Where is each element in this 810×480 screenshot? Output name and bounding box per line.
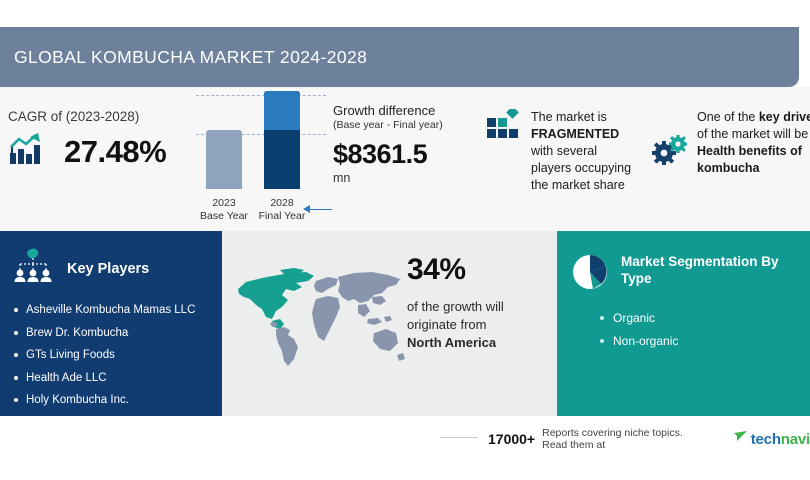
list-item: Organic (613, 307, 810, 330)
cagr-value: 27.48% (64, 134, 166, 170)
growth-difference-block: Growth difference (Base year - Final yea… (333, 103, 478, 185)
pie-chart-icon (571, 253, 609, 296)
key-players-list: Asheville Kombucha Mamas LLC Brew Dr. Ko… (0, 299, 222, 412)
segmentation-title: Market Segmentation By Type (621, 253, 781, 287)
list-item: Holy Kombucha Inc. (26, 389, 222, 412)
technavio-arrow-icon (733, 429, 748, 449)
market-structure-block: The market is FRAGMENTED with several pl… (487, 109, 635, 194)
key-drivers-block: One of the key drivers of the market wil… (652, 109, 810, 177)
growth-subtitle: (Base year - Final year) (333, 118, 478, 132)
infographic-canvas: GLOBAL KOMBUCHA MARKET 2024-2028 CAGR of… (0, 0, 810, 480)
key-players-panel: Key Players Asheville Kombucha Mamas LLC… (0, 231, 222, 416)
footer-report-count: 17000+ (488, 431, 535, 447)
list-item: Health Ade LLC (26, 367, 222, 390)
region-growth-block: 34% of the growth will originate from No… (222, 231, 557, 416)
bar-final-year (264, 91, 300, 189)
growth-bar-chart: 2023 Base Year 2028 Final Year (196, 93, 326, 223)
page-title: GLOBAL KOMBUCHA MARKET 2024-2028 (0, 47, 367, 68)
world-map-icon (232, 267, 407, 374)
middle-band: Key Players Asheville Kombucha Mamas LLC… (0, 231, 810, 416)
bar-growth-segment (264, 91, 300, 130)
key-players-title: Key Players (67, 261, 149, 277)
key-drivers-text: One of the key drivers of the market wil… (697, 109, 810, 177)
bar-label-base: 2023 Base Year (193, 197, 255, 223)
segmentation-list: Organic Non-organic (557, 307, 810, 353)
growth-unit: mn (333, 171, 478, 185)
page-header: GLOBAL KOMBUCHA MARKET 2024-2028 (0, 27, 799, 87)
region-growth-text: 34% of the growth will originate from No… (407, 253, 547, 352)
cagr-label: CAGR of (2023-2028) (8, 109, 186, 124)
cagr-block: CAGR of (2023-2028) 27.48% (8, 109, 186, 171)
list-item: Asheville Kombucha Mamas LLC (26, 299, 222, 322)
region-caption: of the growth will originate from North … (407, 298, 547, 352)
page-footer: 17000+ Reports covering niche topics. Re… (0, 416, 810, 480)
bar-base-year (206, 130, 242, 189)
list-item: Non-organic (613, 330, 810, 353)
growth-value: $8361.5 (333, 139, 478, 170)
fragmented-squares-icon (487, 109, 521, 194)
growth-title: Growth difference (333, 103, 478, 118)
network-people-icon (10, 248, 56, 289)
region-percent: 34% (407, 253, 547, 287)
gears-icon (652, 135, 688, 177)
footer-divider (440, 437, 478, 438)
callout-arrow-icon (303, 205, 310, 213)
list-item: Brew Dr. Kombucha (26, 322, 222, 345)
segmentation-panel: Market Segmentation By Type Organic Non-… (557, 231, 810, 416)
footer-text: Reports covering niche topics. Read them… (542, 427, 711, 451)
list-item: GTs Living Foods (26, 344, 222, 367)
bar-chart-growth-icon (8, 133, 48, 171)
logo-text: technavi (751, 431, 810, 448)
technavio-logo[interactable]: technavi (733, 429, 810, 449)
guide-line-top (196, 95, 326, 96)
market-structure-text: The market is FRAGMENTED with several pl… (531, 109, 631, 194)
top-stats-band: CAGR of (2023-2028) 27.48% (0, 87, 810, 231)
